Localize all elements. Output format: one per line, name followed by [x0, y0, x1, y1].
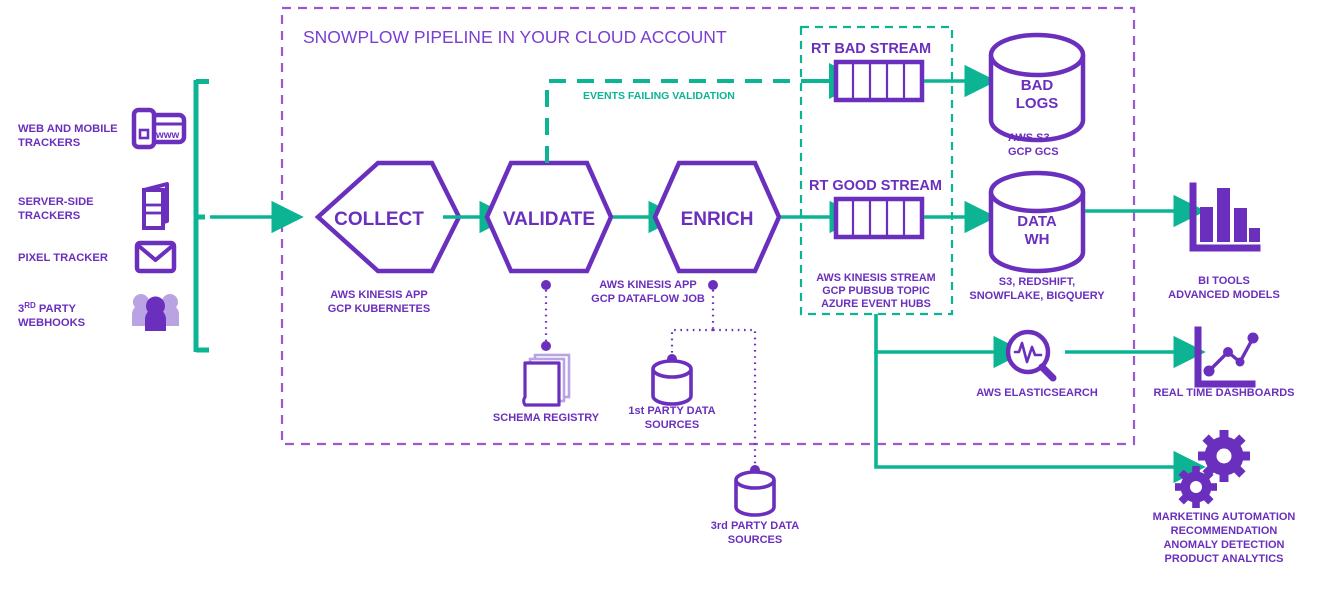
stage-collect: COLLECT AWS KINESIS APP GCP KUBERNETES — [318, 163, 459, 315]
data-wh-store: DATA WH S3, REDSHIFT, SNOWFLAKE, BIGQUER… — [969, 173, 1105, 302]
first-party-label-line: SOURCES — [645, 419, 699, 431]
good-stream-queue — [836, 199, 922, 237]
bad-logs-caption-line: GCP GCS — [1008, 146, 1059, 158]
bad-logs-label-line: BAD — [1021, 77, 1054, 94]
source-label-line: 3RD PARTY — [18, 301, 77, 315]
magnifier-pulse-icon — [1008, 332, 1053, 378]
stage-label: COLLECT — [334, 209, 424, 230]
stage-validate: VALIDATE — [487, 163, 611, 271]
marketing-label-line: PRODUCT ANALYTICS — [1165, 553, 1284, 565]
validate-to-schema-registry-link — [541, 280, 551, 351]
good-stream-caption-line: AZURE EVENT HUBS — [821, 298, 931, 310]
source-item-server-side: SERVER-SIDE TRACKERS — [18, 184, 167, 228]
bad-stream-title: RT BAD STREAM — [811, 41, 931, 57]
source-label-line: WEBHOOKS — [18, 317, 86, 329]
stage-label: ENRICH — [681, 209, 754, 230]
elasticsearch-label: AWS ELASTICSEARCH — [976, 387, 1098, 399]
data-wh-label-line: DATA — [1017, 213, 1057, 230]
source-item-web-mobile: WEB AND MOBILE TRACKERS www — [18, 110, 184, 149]
pipeline-title: SNOWPLOW PIPELINE IN YOUR CLOUD ACCOUNT — [303, 27, 727, 47]
sources-bracket — [196, 80, 209, 352]
source-label-line: PIXEL TRACKER — [18, 252, 108, 264]
stage-caption-line: GCP KUBERNETES — [328, 303, 430, 315]
marketing-output: MARKETING AUTOMATION RECOMMENDATION ANOM… — [1153, 430, 1296, 565]
gears-icon — [1175, 430, 1250, 508]
third-party-label-line: 3rd PARTY DATA — [711, 520, 799, 532]
source-item-pixel: PIXEL TRACKER — [18, 243, 174, 271]
marketing-label-line: MARKETING AUTOMATION — [1153, 511, 1296, 523]
pipeline-middle-caption-line: AWS KINESIS APP — [599, 279, 696, 291]
stage-label: VALIDATE — [503, 209, 595, 230]
first-party-label-line: 1st PARTY DATA — [628, 405, 715, 417]
dashboards-output: REAL TIME DASHBOARDS — [1154, 330, 1295, 399]
source-label-line: TRACKERS — [18, 210, 81, 222]
bad-stream-queue — [836, 62, 922, 100]
source-item-webhooks: 3RD PARTY WEBHOOKS — [18, 294, 179, 331]
source-label-line: WEB AND MOBILE — [18, 123, 118, 135]
svg-text:www: www — [155, 130, 180, 141]
documents-stack-icon — [524, 355, 569, 405]
source-label-line: SERVER-SIDE — [18, 196, 94, 208]
first-party-data-sources: 1st PARTY DATA SOURCES — [628, 361, 715, 431]
diagram-canvas: SNOWPLOW PIPELINE IN YOUR CLOUD ACCOUNT … — [0, 0, 1317, 592]
people-icon — [132, 294, 179, 331]
third-party-label-line: SOURCES — [728, 534, 782, 546]
schema-registry: SCHEMA REGISTRY — [493, 355, 600, 424]
stage-enrich: ENRICH — [655, 163, 779, 271]
events-failing-validation-label: EVENTS FAILING VALIDATION — [583, 90, 735, 102]
bad-logs-store: BAD LOGS AWS S3 GCP GCS — [991, 35, 1083, 158]
third-party-data-sources: 3rd PARTY DATA SOURCES — [711, 472, 799, 546]
stage-caption-line: AWS KINESIS APP — [330, 289, 427, 301]
data-wh-label-line: WH — [1025, 231, 1050, 248]
bi-tools-output: BI TOOLS ADVANCED MODELS — [1168, 186, 1280, 301]
good-stream-caption-line: AWS KINESIS STREAM — [816, 272, 935, 284]
line-chart-icon — [1198, 330, 1259, 384]
good-stream-caption-line: GCP PUBSUB TOPIC — [822, 285, 930, 297]
dashboards-label: REAL TIME DASHBOARDS — [1154, 387, 1295, 399]
data-wh-caption-line: S3, REDSHIFT, — [999, 276, 1075, 288]
elasticsearch-output: AWS ELASTICSEARCH — [976, 332, 1098, 399]
database-icon — [653, 361, 691, 404]
bar-chart-icon — [1193, 186, 1260, 248]
mobile-browser-icon: www — [134, 110, 184, 147]
data-wh-caption-line: SNOWFLAKE, BIGQUERY — [969, 290, 1105, 302]
database-icon — [736, 472, 774, 515]
bad-logs-label-line: LOGS — [1016, 95, 1059, 112]
good-stream-title: RT GOOD STREAM — [809, 178, 942, 194]
envelope-icon — [137, 243, 174, 271]
server-icon — [144, 184, 167, 228]
marketing-label-line: ANOMALY DETECTION — [1163, 539, 1284, 551]
bad-logs-caption-line: AWS S3 — [1008, 132, 1050, 144]
schema-registry-label: SCHEMA REGISTRY — [493, 412, 600, 424]
marketing-label-line: RECOMMENDATION — [1171, 525, 1278, 537]
source-label-line: TRACKERS — [18, 137, 81, 149]
bi-tools-label-line: BI TOOLS — [1198, 275, 1250, 287]
bi-tools-label-line: ADVANCED MODELS — [1168, 289, 1280, 301]
pipeline-middle-caption-line: GCP DATAFLOW JOB — [591, 293, 705, 305]
